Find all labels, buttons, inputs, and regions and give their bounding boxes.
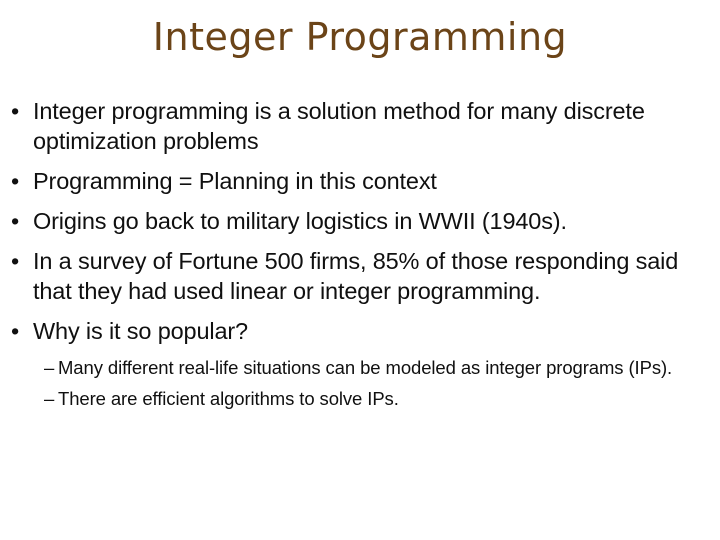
slide-canvas: Integer Programming • Integer programmin… xyxy=(0,0,720,540)
list-item-label: There are efficient algorithms to solve … xyxy=(58,386,708,411)
list-item: • Programming = Planning in this context xyxy=(8,166,708,196)
bullet-marker-icon: • xyxy=(11,246,19,276)
bullet-list: • Integer programming is a solution meth… xyxy=(8,96,708,346)
list-item: – There are efficient algorithms to solv… xyxy=(44,386,708,411)
slide-title-area: Integer Programming xyxy=(0,14,720,60)
list-item: • Origins go back to military logistics … xyxy=(8,206,708,236)
list-item-label: Origins go back to military logistics in… xyxy=(33,206,708,236)
page-title: Integer Programming xyxy=(153,14,567,60)
list-item: • In a survey of Fortune 500 firms, 85% … xyxy=(8,246,708,306)
bullet-marker-icon: • xyxy=(11,206,19,236)
sub-bullet-list: – Many different real-life situations ca… xyxy=(33,355,708,411)
list-item: • Why is it so popular? xyxy=(8,316,708,346)
sub-bullet-container: – Many different real-life situations ca… xyxy=(8,355,708,411)
dash-marker-icon: – xyxy=(44,355,54,380)
list-item-label: Programming = Planning in this context xyxy=(33,166,708,196)
list-item-label: Integer programming is a solution method… xyxy=(33,96,708,156)
slide-body: • Integer programming is a solution meth… xyxy=(8,96,708,417)
bullet-marker-icon: • xyxy=(11,166,19,196)
bullet-marker-icon: • xyxy=(11,96,19,126)
list-item-label: In a survey of Fortune 500 firms, 85% of… xyxy=(33,246,708,306)
bullet-marker-icon: • xyxy=(11,316,19,346)
list-item-label: Why is it so popular? xyxy=(33,316,708,346)
dash-marker-icon: – xyxy=(44,386,54,411)
list-item: • Integer programming is a solution meth… xyxy=(8,96,708,156)
list-item-label: Many different real-life situations can … xyxy=(58,355,708,380)
list-item: – Many different real-life situations ca… xyxy=(44,355,708,380)
